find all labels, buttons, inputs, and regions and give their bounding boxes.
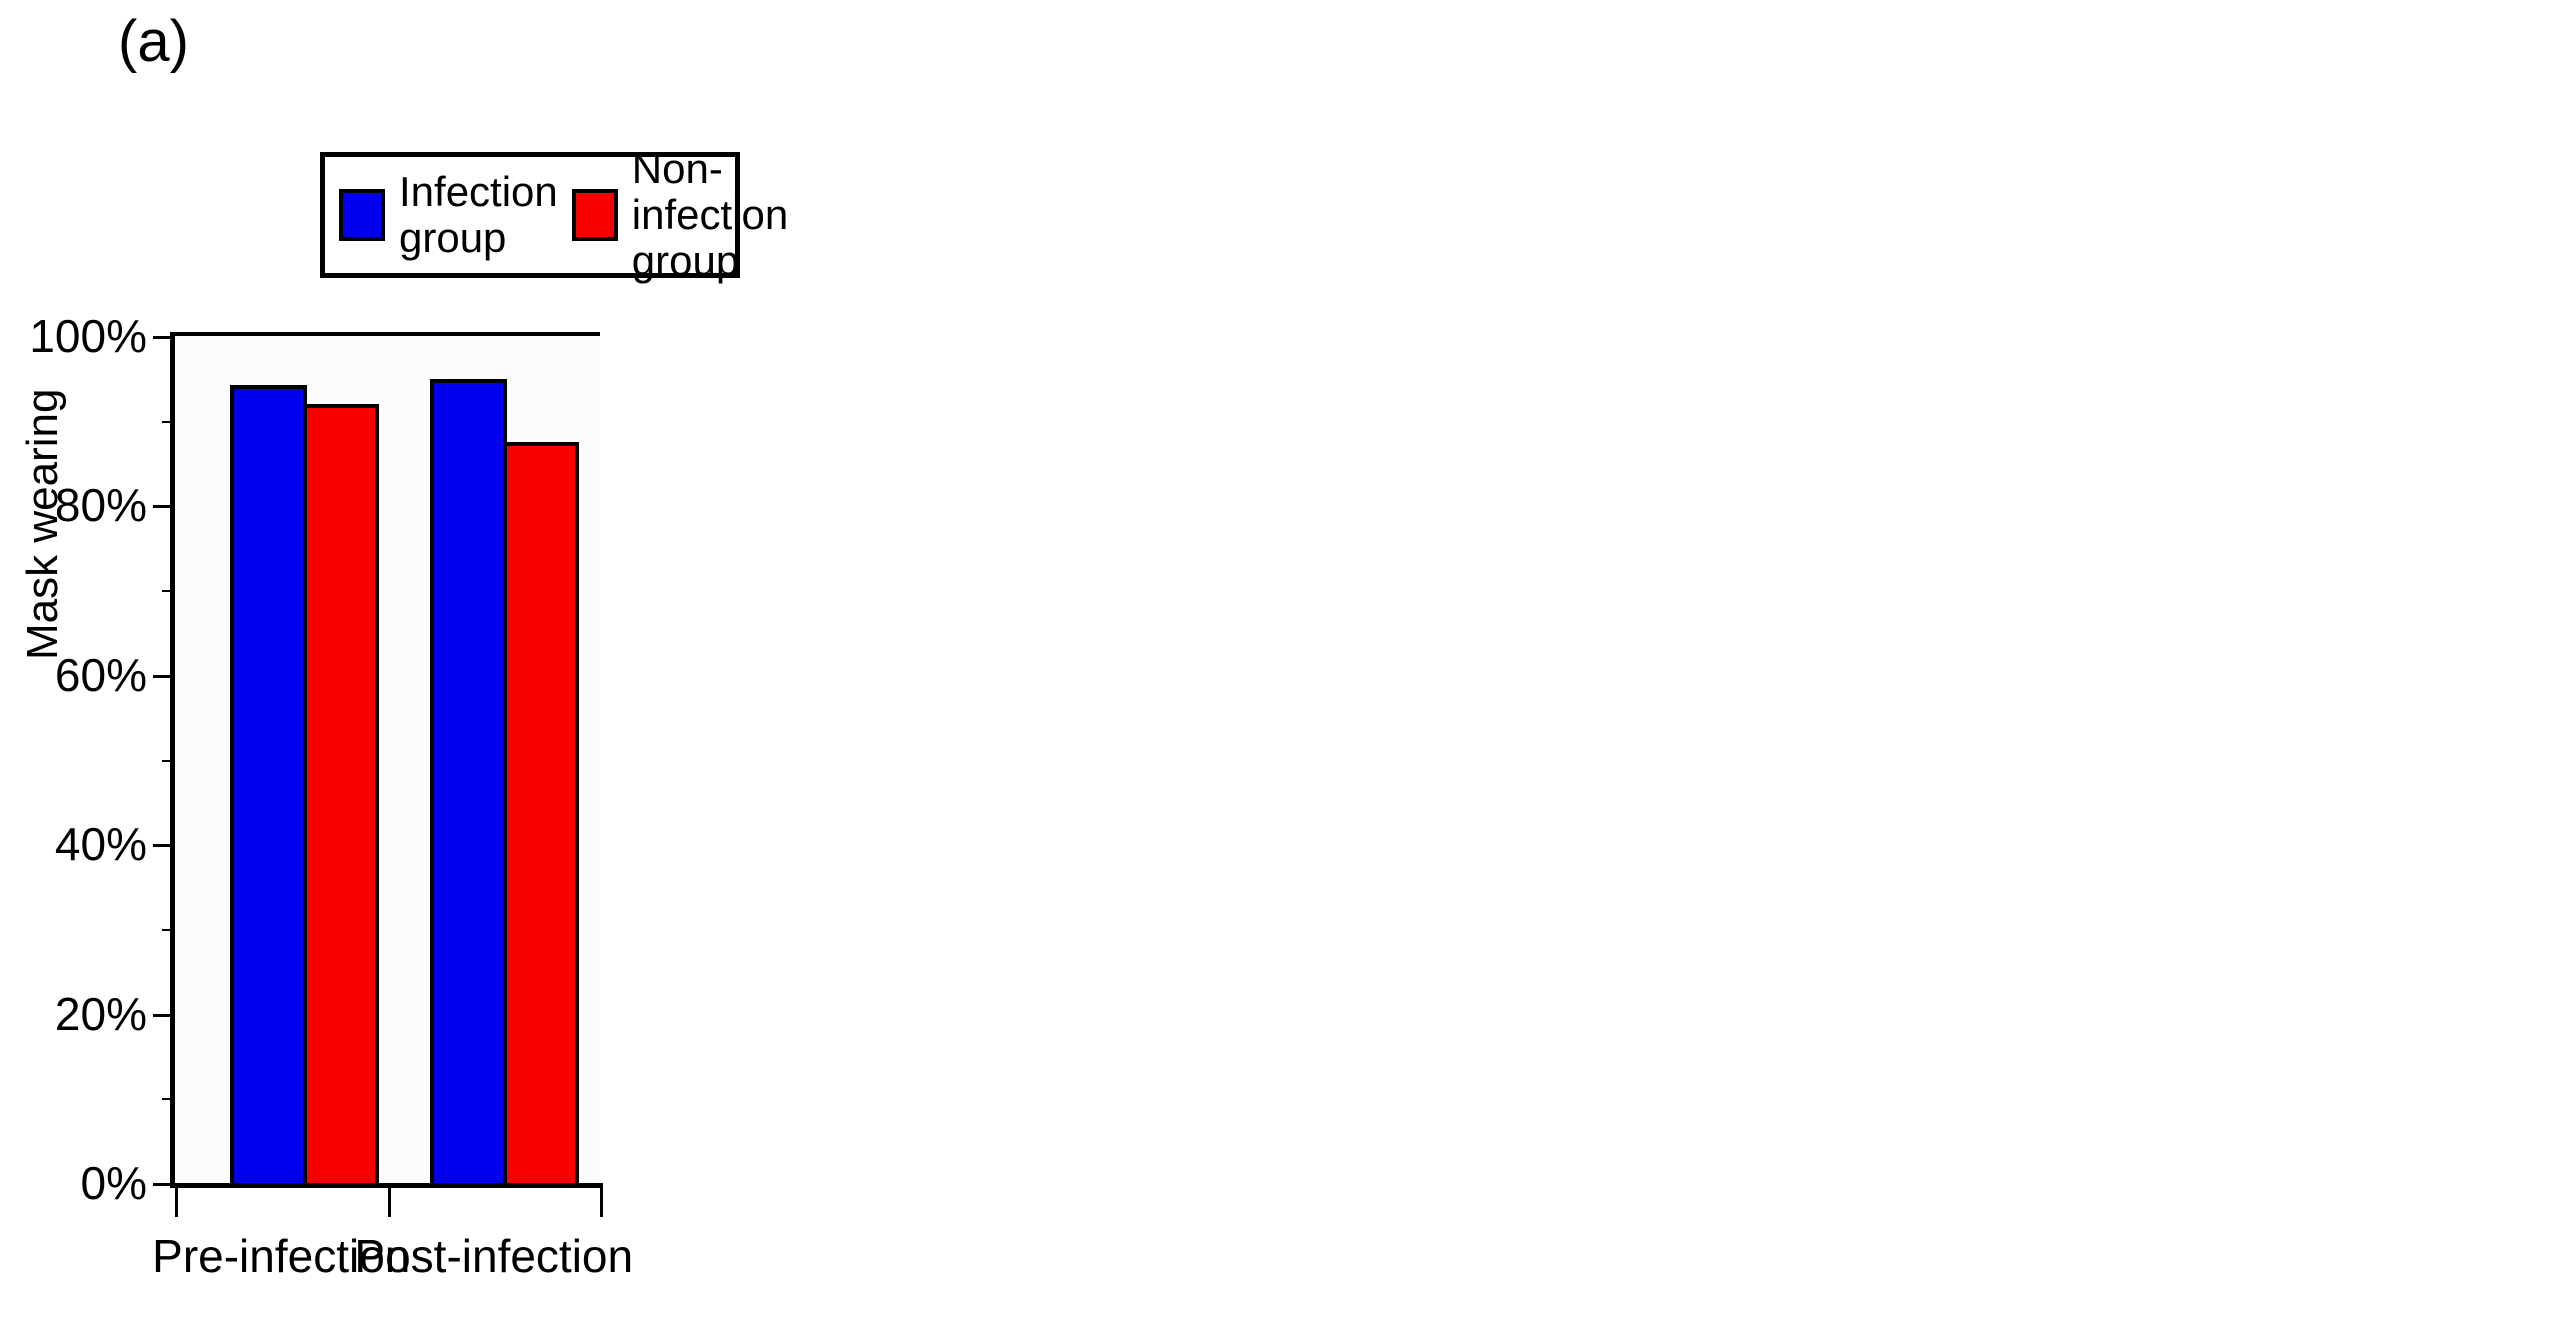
panel-a-ytick-label-1: 20% [55,987,147,1041]
panel-a-ytick-minor-2 [162,760,175,762]
panel-a-xlabel-post: Post-infection [354,1229,633,1283]
panel-a-ytick-20pct [153,1014,175,1017]
panel-b: (b) Infection group Non-infection group … [1280,0,2560,1319]
panel-a-xtick-right [600,1183,603,1217]
legend-swatch-infection-icon [339,189,385,241]
panel-a-ytick-0pct [153,1183,175,1186]
panel-a-xtick-mid [388,1183,391,1217]
legend-label-infection: Infection group [399,169,558,261]
panel-a-ytick-80pct [153,505,175,508]
panel-a-ytick-label-3: 60% [55,648,147,702]
panel-a-plot-area: Pre-infection Post-infection 0%20%40%60%… [170,332,600,1188]
panel-a-ytick-60pct [153,675,175,678]
bar-group-post-infection [430,336,583,1183]
legend-entry-infection: Infection group [325,169,558,261]
legend-label-non-infection: Non-infection group [632,146,788,284]
panel-a-ytick-label-5: 100% [29,309,147,363]
panel-a-ytick-40pct [153,844,175,847]
panel-a-ytick-minor-1 [162,929,175,931]
bar-non-infection-post[interactable] [503,442,580,1183]
panel-a-tag: (a) [118,8,189,75]
bar-infection-post[interactable] [430,379,507,1183]
panel-a-xtick-left [175,1183,178,1217]
bar-non-infection-pre[interactable] [303,404,380,1183]
panel-a-ytick-label-0: 0% [81,1156,147,1210]
panel-a-legend: Infection group Non-infection group [320,152,740,278]
legend-entry-non-infection: Non-infection group [558,146,788,284]
panel-a-ytick-minor-0 [162,1098,175,1100]
panel-a-ytick-100pct [153,336,175,339]
panel-a-ytick-minor-3 [162,590,175,592]
panel-a: (a) Infection group Non-infection group … [0,0,1280,1319]
bar-infection-pre[interactable] [230,385,307,1183]
bar-group-pre-infection [230,336,383,1183]
legend-swatch-non-infection-icon [572,189,618,241]
panel-a-ytick-minor-4 [162,421,175,423]
panel-a-ytick-label-4: 80% [55,478,147,532]
panel-a-ytick-label-2: 40% [55,817,147,871]
